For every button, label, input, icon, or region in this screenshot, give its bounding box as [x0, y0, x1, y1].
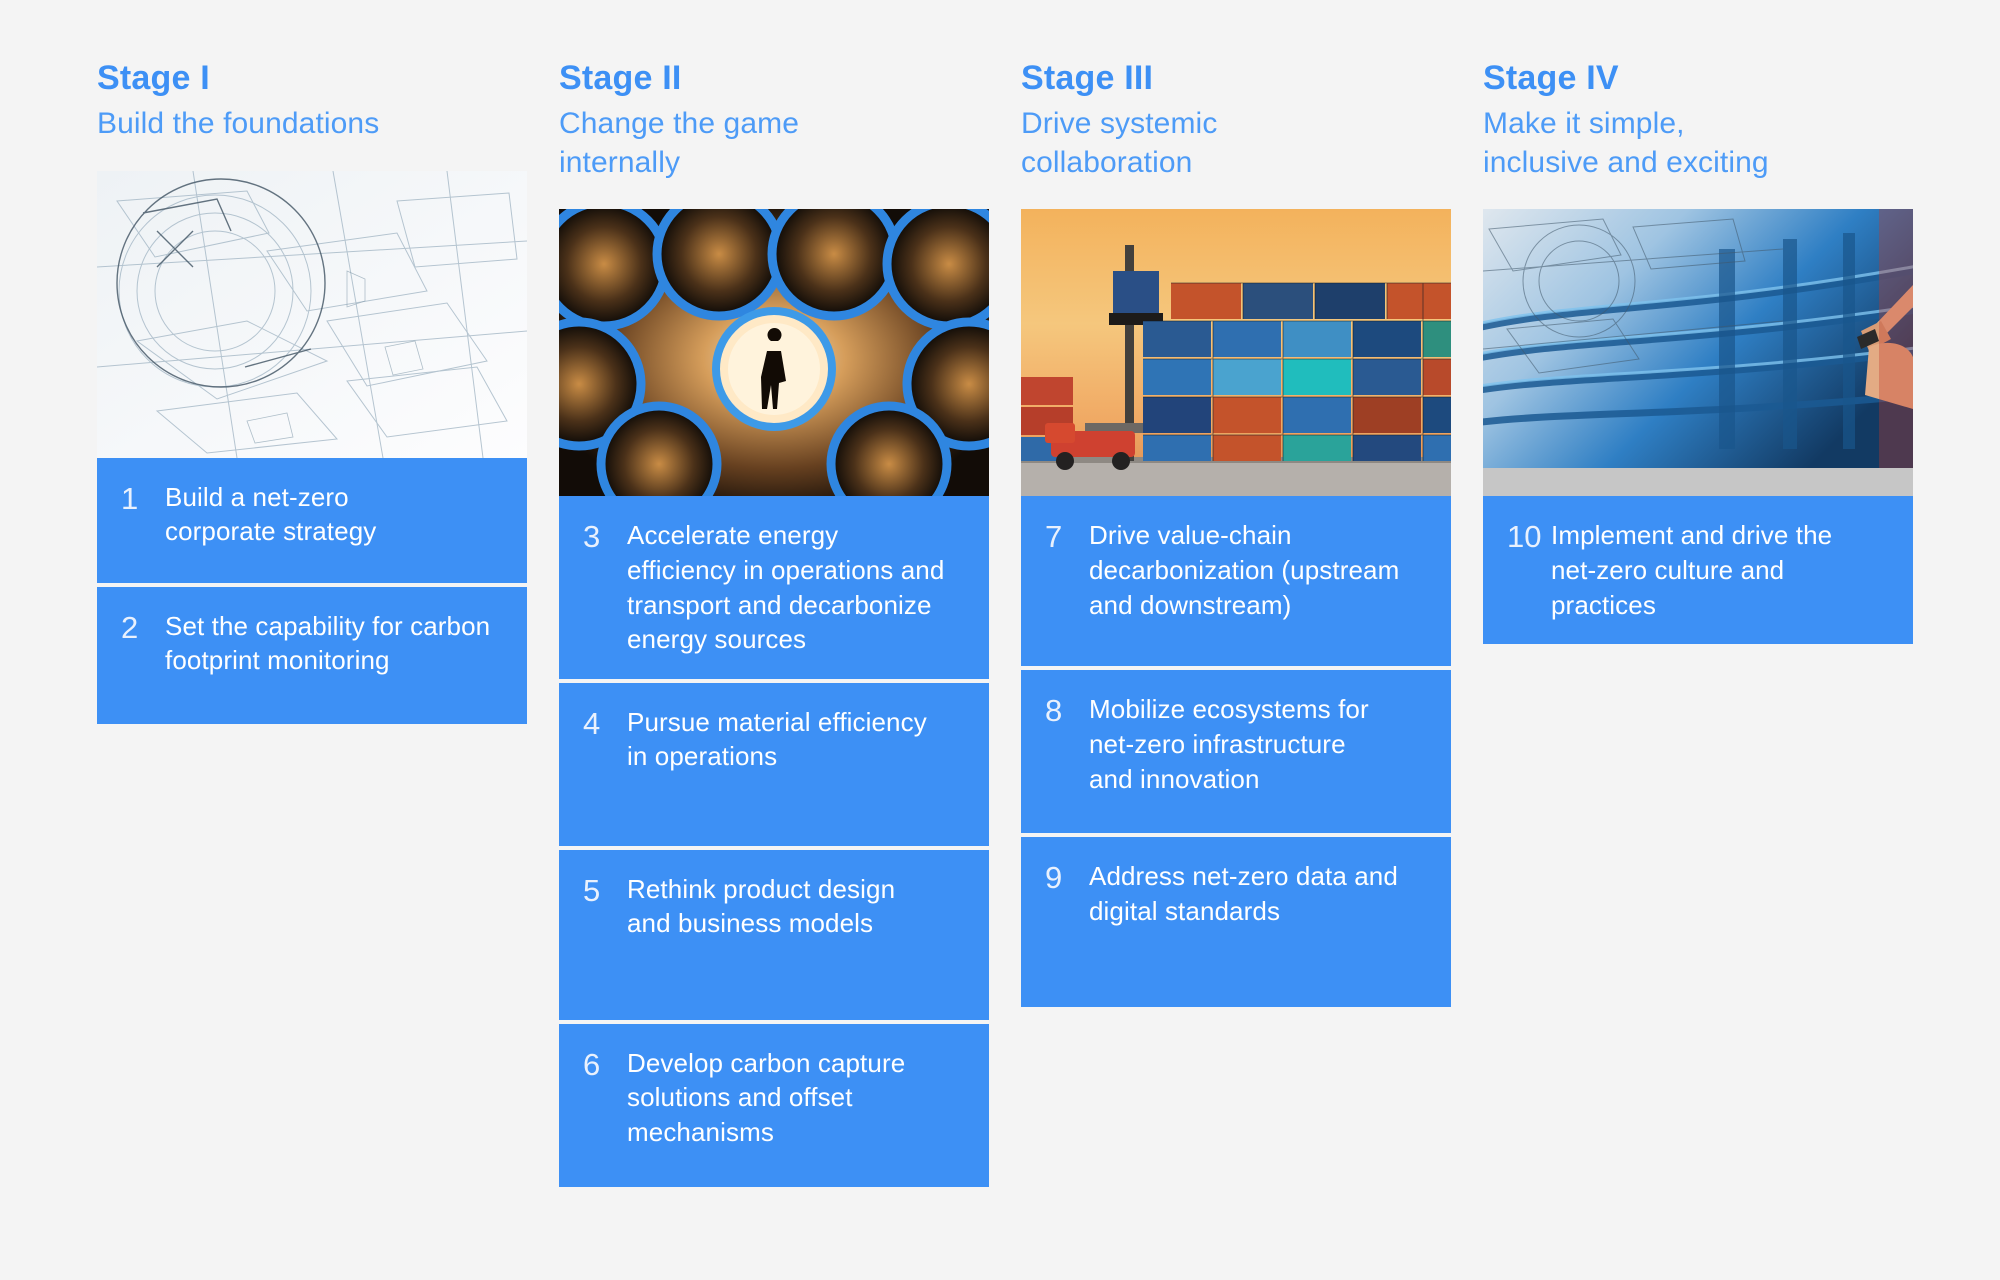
stage-image-3 — [1021, 209, 1451, 496]
item-number: 10 — [1507, 518, 1551, 556]
item-number: 5 — [583, 872, 627, 910]
roadmap-item[interactable]: 2 Set the capability for carbon footprin… — [97, 587, 527, 724]
stage-title-4: Stage IV — [1483, 58, 1913, 98]
stage-header-2: Stage II Change the game internally — [559, 58, 989, 182]
item-text: Drive value-chain decarbonization (upstr… — [1089, 518, 1399, 622]
stage-title-1: Stage I — [97, 58, 527, 98]
stage-column-4: Stage IV Make it simple, inclusive and e… — [1483, 58, 1913, 644]
roadmap-item[interactable]: 1 Build a net-zero corporate strategy — [97, 458, 527, 583]
item-number: 2 — [121, 609, 165, 647]
stage-items-4: 10 Implement and drive the net-zero cult… — [1483, 496, 1913, 644]
stage-items-2: 3 Accelerate energy efficiency in operat… — [559, 496, 989, 1186]
roadmap-item[interactable]: 4 Pursue material efficiency in operatio… — [559, 683, 989, 846]
stage-image-1 — [97, 171, 527, 458]
item-text: Accelerate energy efficiency in operatio… — [627, 518, 944, 656]
item-text: Pursue material efficiency in operations — [627, 705, 927, 774]
roadmap-item[interactable]: 5 Rethink product design and business mo… — [559, 850, 989, 1020]
item-number: 6 — [583, 1046, 627, 1084]
stage-column-3: Stage III Drive systemic collaboration — [1021, 58, 1451, 1007]
stage-header-3: Stage III Drive systemic collaboration — [1021, 58, 1451, 182]
roadmap-item[interactable]: 6 Develop carbon capture solutions and o… — [559, 1024, 989, 1187]
item-text: Build a net-zero corporate strategy — [165, 480, 376, 549]
item-number: 3 — [583, 518, 627, 556]
stage-title-3: Stage III — [1021, 58, 1451, 98]
stage-header-4: Stage IV Make it simple, inclusive and e… — [1483, 58, 1913, 182]
item-number: 8 — [1045, 692, 1089, 730]
stage-subtitle-1: Build the foundations — [97, 105, 527, 144]
stage-image-4-grey-band — [1483, 468, 1913, 496]
stage-column-2: Stage II Change the game internally — [559, 58, 989, 1187]
item-text: Set the capability for carbon footprint … — [165, 609, 490, 678]
roadmap-item[interactable]: 8 Mobilize ecosystems for net-zero infra… — [1021, 670, 1451, 833]
stage-subtitle-3: Drive systemic collaboration — [1021, 105, 1451, 182]
net-zero-roadmap-diagram: Stage I Build the foundations — [0, 0, 2000, 1280]
roadmap-item[interactable]: 9 Address net-zero data and digital stan… — [1021, 837, 1451, 1007]
item-number: 9 — [1045, 859, 1089, 897]
item-text: Address net-zero data and digital standa… — [1089, 859, 1398, 928]
item-text: Implement and drive the net-zero culture… — [1551, 518, 1887, 622]
roadmap-item[interactable]: 3 Accelerate energy efficiency in operat… — [559, 496, 989, 678]
stage-column-1: Stage I Build the foundations — [97, 58, 527, 724]
item-text: Develop carbon capture solutions and off… — [627, 1046, 905, 1150]
stage-items-3: 7 Drive value-chain decarbonization (ups… — [1021, 496, 1451, 1007]
roadmap-item[interactable]: 10 Implement and drive the net-zero cult… — [1483, 496, 1913, 644]
item-text: Rethink product design and business mode… — [627, 872, 895, 941]
item-number: 4 — [583, 705, 627, 743]
roadmap-item[interactable]: 7 Drive value-chain decarbonization (ups… — [1021, 496, 1451, 666]
stage-subtitle-4: Make it simple, inclusive and exciting — [1483, 105, 1913, 182]
item-text: Mobilize ecosystems for net-zero infrast… — [1089, 692, 1369, 796]
stage-image-4 — [1483, 209, 1913, 468]
stage-subtitle-2: Change the game internally — [559, 105, 989, 182]
stage-image-2 — [559, 209, 989, 496]
stage-items-1: 1 Build a net-zero corporate strategy 2 … — [97, 458, 527, 724]
stage-title-2: Stage II — [559, 58, 989, 98]
stage-header-1: Stage I Build the foundations — [97, 58, 527, 144]
item-number: 1 — [121, 480, 165, 518]
item-number: 7 — [1045, 518, 1089, 556]
